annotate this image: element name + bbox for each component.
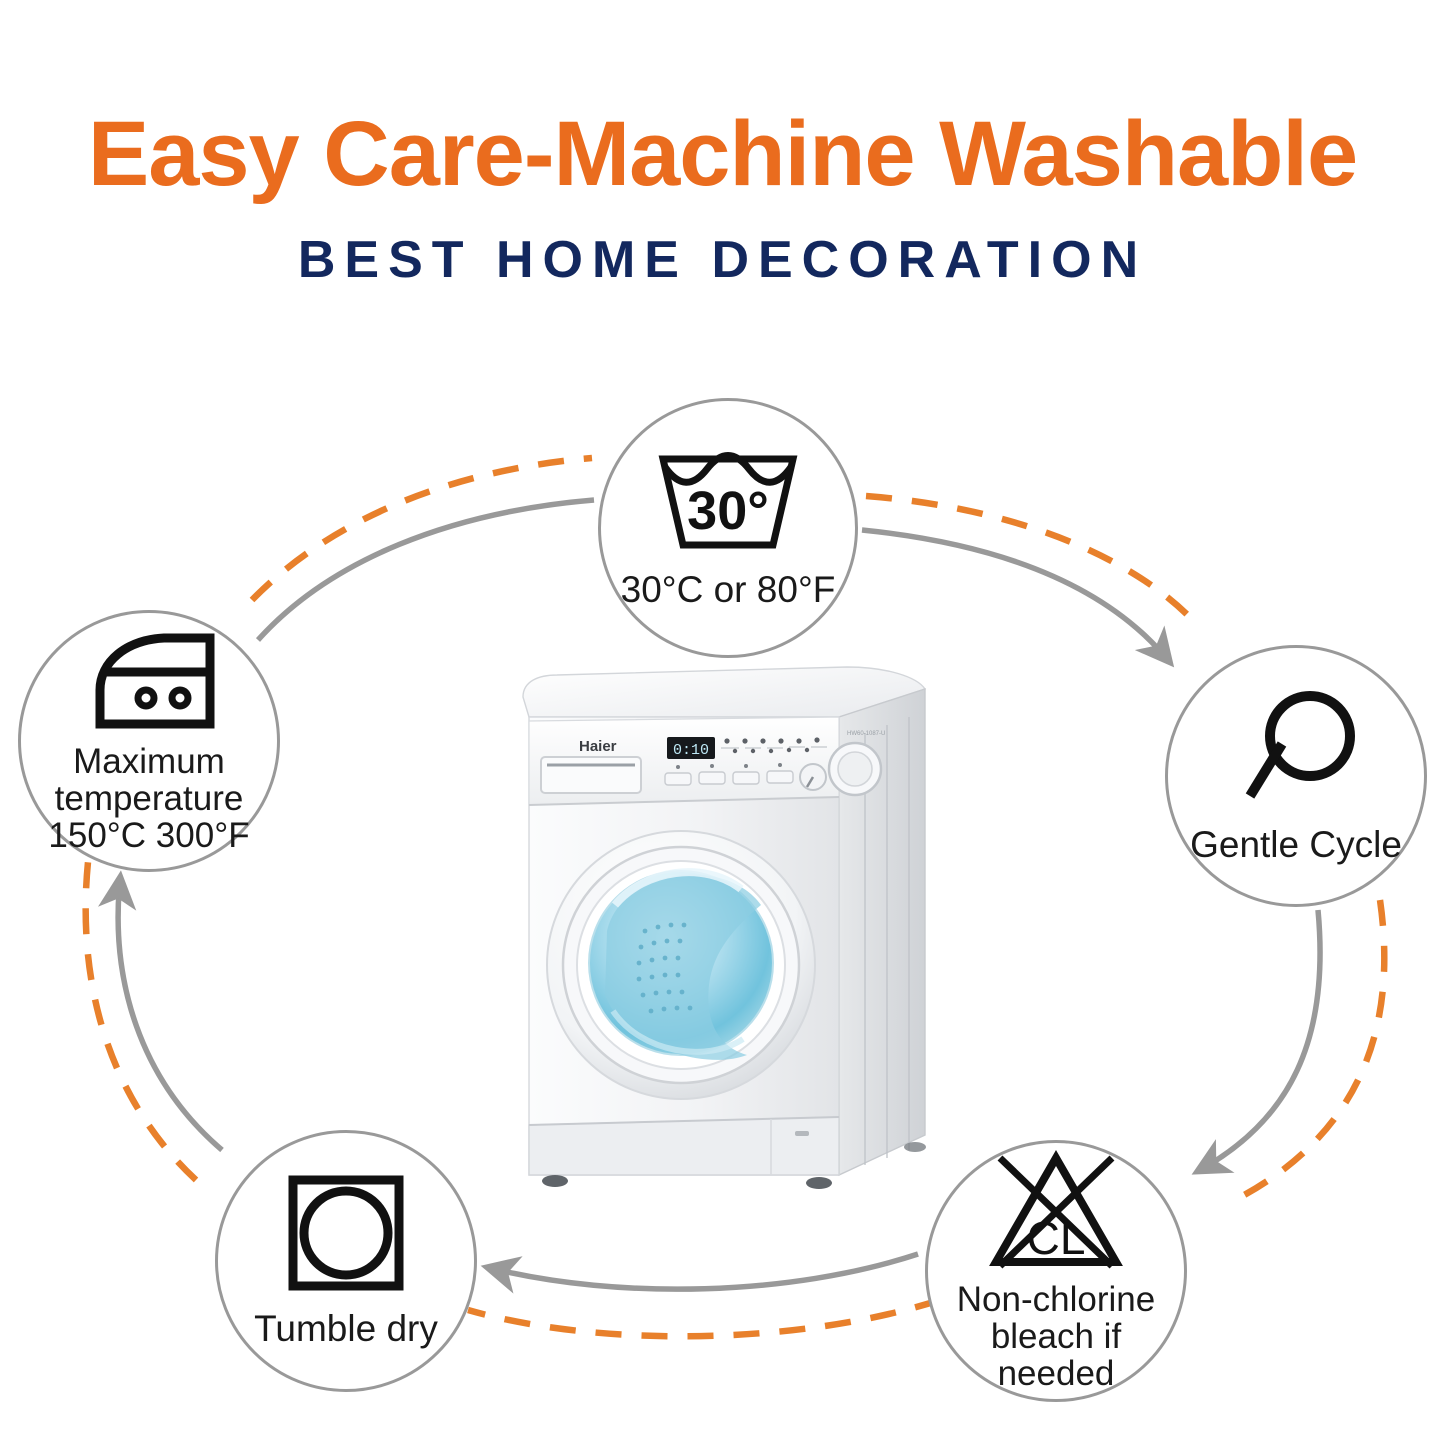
care-node-bleach[interactable]: CL Non-chlorine bleach if needed — [925, 1140, 1187, 1402]
iron-two-dots-icon — [80, 628, 218, 737]
arrow-wash-to-gentle — [862, 530, 1168, 660]
care-node-wash[interactable]: 30° 30°C or 80°F — [598, 398, 858, 658]
page-title: Easy Care-Machine Washable — [0, 0, 1445, 200]
care-node-gentle-cycle[interactable]: Gentle Cycle — [1165, 645, 1427, 907]
svg-text:CL: CL — [1027, 1212, 1086, 1264]
tumble-dry-icon — [285, 1174, 407, 1297]
care-node-iron[interactable]: Maximum temperature 150°C 300°F — [18, 610, 280, 872]
care-node-wash-label: 30°C or 80°F — [621, 570, 836, 609]
machine-foot-right — [806, 1177, 832, 1189]
dashed-arc-left — [86, 862, 196, 1180]
arrow-iron-to-wash — [258, 500, 594, 640]
dashed-arc-right — [1235, 900, 1384, 1200]
detergent-drawer — [541, 757, 641, 793]
non-chlorine-bleach-icon: CL — [986, 1150, 1126, 1277]
infographic-page: Easy Care-Machine Washable BEST HOME DEC… — [0, 0, 1445, 1445]
wash-tub-30-icon: 30° — [653, 447, 803, 564]
header: Easy Care-Machine Washable BEST HOME DEC… — [0, 0, 1445, 286]
digital-display-value: 0:10 — [673, 742, 709, 759]
machine-model-label: HW60-1087-U — [847, 731, 885, 737]
arrow-bleach-to-tumble — [490, 1254, 918, 1289]
machine-brand-label: Haier — [579, 738, 617, 755]
washing-machine-image: Haier 0:10 HW60-1087-U — [495, 655, 955, 1215]
gentle-cycle-icon — [1230, 688, 1362, 815]
machine-kick-plate — [529, 1117, 839, 1175]
care-node-bleach-label: Non-chlorine bleach if needed — [957, 1281, 1155, 1392]
page-subtitle: BEST HOME DECORATION — [0, 200, 1445, 286]
dashed-arc-top-left — [252, 458, 592, 600]
care-node-gentle-cycle-label: Gentle Cycle — [1190, 825, 1402, 864]
arrow-gentle-to-bleach — [1200, 910, 1320, 1170]
dashed-arc-top-right — [866, 496, 1200, 628]
svg-text:30°: 30° — [687, 481, 769, 541]
arrow-tumble-to-iron — [118, 880, 222, 1150]
care-node-tumble-dry[interactable]: Tumble dry — [215, 1130, 477, 1392]
dashed-arc-bottom — [468, 1300, 940, 1336]
machine-foot-left — [542, 1175, 568, 1187]
care-node-iron-label: Maximum temperature 150°C 300°F — [48, 743, 249, 854]
care-node-tumble-dry-label: Tumble dry — [254, 1309, 438, 1348]
